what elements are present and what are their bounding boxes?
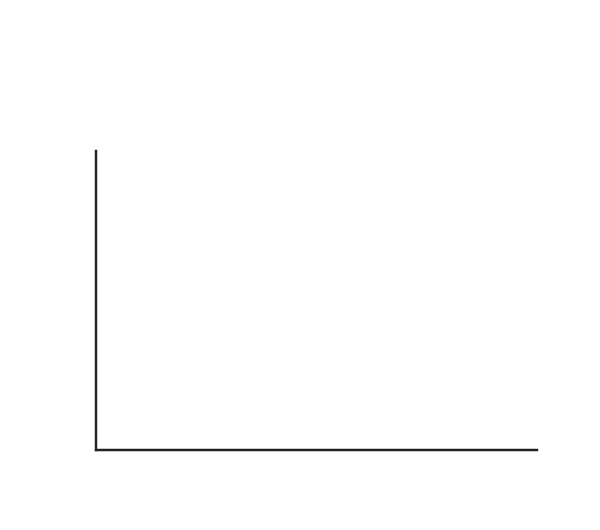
elisa-sigmoid-plot bbox=[0, 0, 600, 530]
axes-group bbox=[96, 151, 537, 450]
chart-page bbox=[0, 0, 600, 530]
